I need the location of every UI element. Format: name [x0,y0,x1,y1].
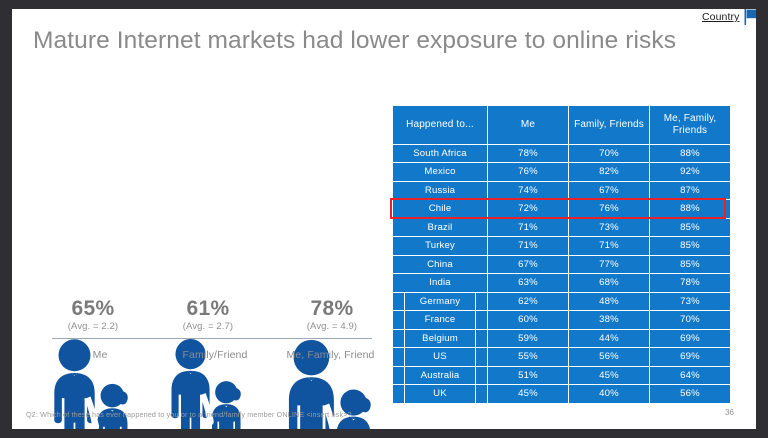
table-row[interactable]: US55%56%69% [393,348,730,366]
cell-family: 38% [569,311,649,329]
cell-family: 67% [569,182,649,200]
cell-country: China [393,256,487,274]
cell-both: 56% [650,385,730,403]
cell-country: Chile [393,200,487,218]
table-row[interactable]: France60%38%70% [393,311,730,329]
cell-family: 45% [569,367,649,385]
chart-group-me: 65% (Avg. = 2.2) [40,298,146,335]
slide-canvas: Country Mature Internet markets had lowe… [12,9,756,429]
country-tag[interactable]: Country [702,9,756,34]
cell-both: 73% [650,293,730,311]
country-link[interactable]: Country [702,11,739,23]
table-row[interactable]: Germany62%48%73% [393,293,730,311]
cell-both: 85% [650,219,730,237]
cell-me: 76% [488,163,568,181]
cell-family: 71% [569,237,649,255]
chart-baseline [52,338,372,339]
axis-label-me-family-friend: Me, Family, Friend [268,349,393,361]
col-header-both[interactable]: Me, Family, Friends [650,106,730,144]
group-average: (Avg. = 2.7) [158,321,258,332]
cell-family: 44% [569,330,649,348]
cell-country: Russia [393,182,487,200]
col-header-family[interactable]: Family, Friends [569,106,649,144]
cell-both: 88% [650,145,730,163]
axis-label-me: Me [50,349,150,361]
table-body: South Africa78%70%88%Mexico76%82%92%Russ… [393,145,730,403]
cell-me: 67% [488,256,568,274]
table-row[interactable]: Brazil71%73%85% [393,219,730,237]
cell-country: Germany [393,293,487,311]
footnote: Q2: Which of these has ever happened to … [26,410,352,419]
cell-me: 72% [488,200,568,218]
chart-group-family-friend: 61% (Avg. = 2.7) [158,298,258,335]
table-row[interactable]: Belgium59%44%69% [393,330,730,348]
group-percent: 61% [158,298,258,320]
cell-country: France [393,311,487,329]
cell-me: 60% [488,311,568,329]
cell-me: 55% [488,348,568,366]
chart-group-me-family-friend: 78% (Avg. = 4.9) [273,298,391,335]
cell-country: Brazil [393,219,487,237]
col-header-me[interactable]: Me [488,106,568,144]
cell-family: 73% [569,219,649,237]
cell-both: 85% [650,237,730,255]
group-percent: 65% [40,298,146,320]
cell-family: 40% [569,385,649,403]
table-row[interactable]: UK45%40%56% [393,385,730,403]
page-title: Mature Internet markets had lower exposu… [33,25,693,57]
cell-me: 78% [488,145,568,163]
cell-country: US [393,348,487,366]
table-row[interactable]: Turkey71%71%85% [393,237,730,255]
cell-country: Mexico [393,163,487,181]
cell-family: 76% [569,200,649,218]
table-row[interactable]: Chile72%76%88% [393,200,730,218]
cell-me: 74% [488,182,568,200]
cell-family: 56% [569,348,649,366]
cell-family: 82% [569,163,649,181]
group-average: (Avg. = 2.2) [40,321,146,332]
page-number: 36 [725,408,734,417]
table-row[interactable]: China67%77%85% [393,256,730,274]
cell-country: Belgium [393,330,487,348]
cell-me: 45% [488,385,568,403]
group-percent: 78% [273,298,391,320]
table-row[interactable]: South Africa78%70%88% [393,145,730,163]
cell-me: 63% [488,274,568,292]
cell-me: 59% [488,330,568,348]
pictogram-chart: 65% (Avg. = 2.2) [30,129,385,379]
group-average: (Avg. = 4.9) [273,321,391,332]
cell-me: 62% [488,293,568,311]
cell-country: South Africa [393,145,487,163]
cell-me: 51% [488,367,568,385]
cell-family: 48% [569,293,649,311]
cell-family: 68% [569,274,649,292]
table: Happened to... Me Family, Friends Me, Fa… [392,105,731,404]
col-header-country[interactable]: Happened to... [393,106,487,144]
table-row[interactable]: Australia51%45%64% [393,367,730,385]
country-data-table: Happened to... Me Family, Friends Me, Fa… [392,105,728,404]
cell-both: 70% [650,311,730,329]
cell-both: 85% [650,256,730,274]
cell-country: Australia [393,367,487,385]
axis-label-family-friend: Family/Friend [160,349,270,361]
cell-country: India [393,274,487,292]
cell-me: 71% [488,219,568,237]
table-row[interactable]: Mexico76%82%92% [393,163,730,181]
cell-both: 92% [650,163,730,181]
cell-country: Turkey [393,237,487,255]
table-row[interactable]: India63%68%78% [393,274,730,292]
cell-both: 88% [650,200,730,218]
table-header-row: Happened to... Me Family, Friends Me, Fa… [393,106,730,144]
cell-family: 70% [569,145,649,163]
flag-icon [744,9,756,26]
cell-both: 78% [650,274,730,292]
cell-me: 71% [488,237,568,255]
cell-country: UK [393,385,487,403]
cell-both: 69% [650,330,730,348]
cell-both: 87% [650,182,730,200]
table-row[interactable]: Russia74%67%87% [393,182,730,200]
cell-both: 69% [650,348,730,366]
cell-both: 64% [650,367,730,385]
cell-family: 77% [569,256,649,274]
